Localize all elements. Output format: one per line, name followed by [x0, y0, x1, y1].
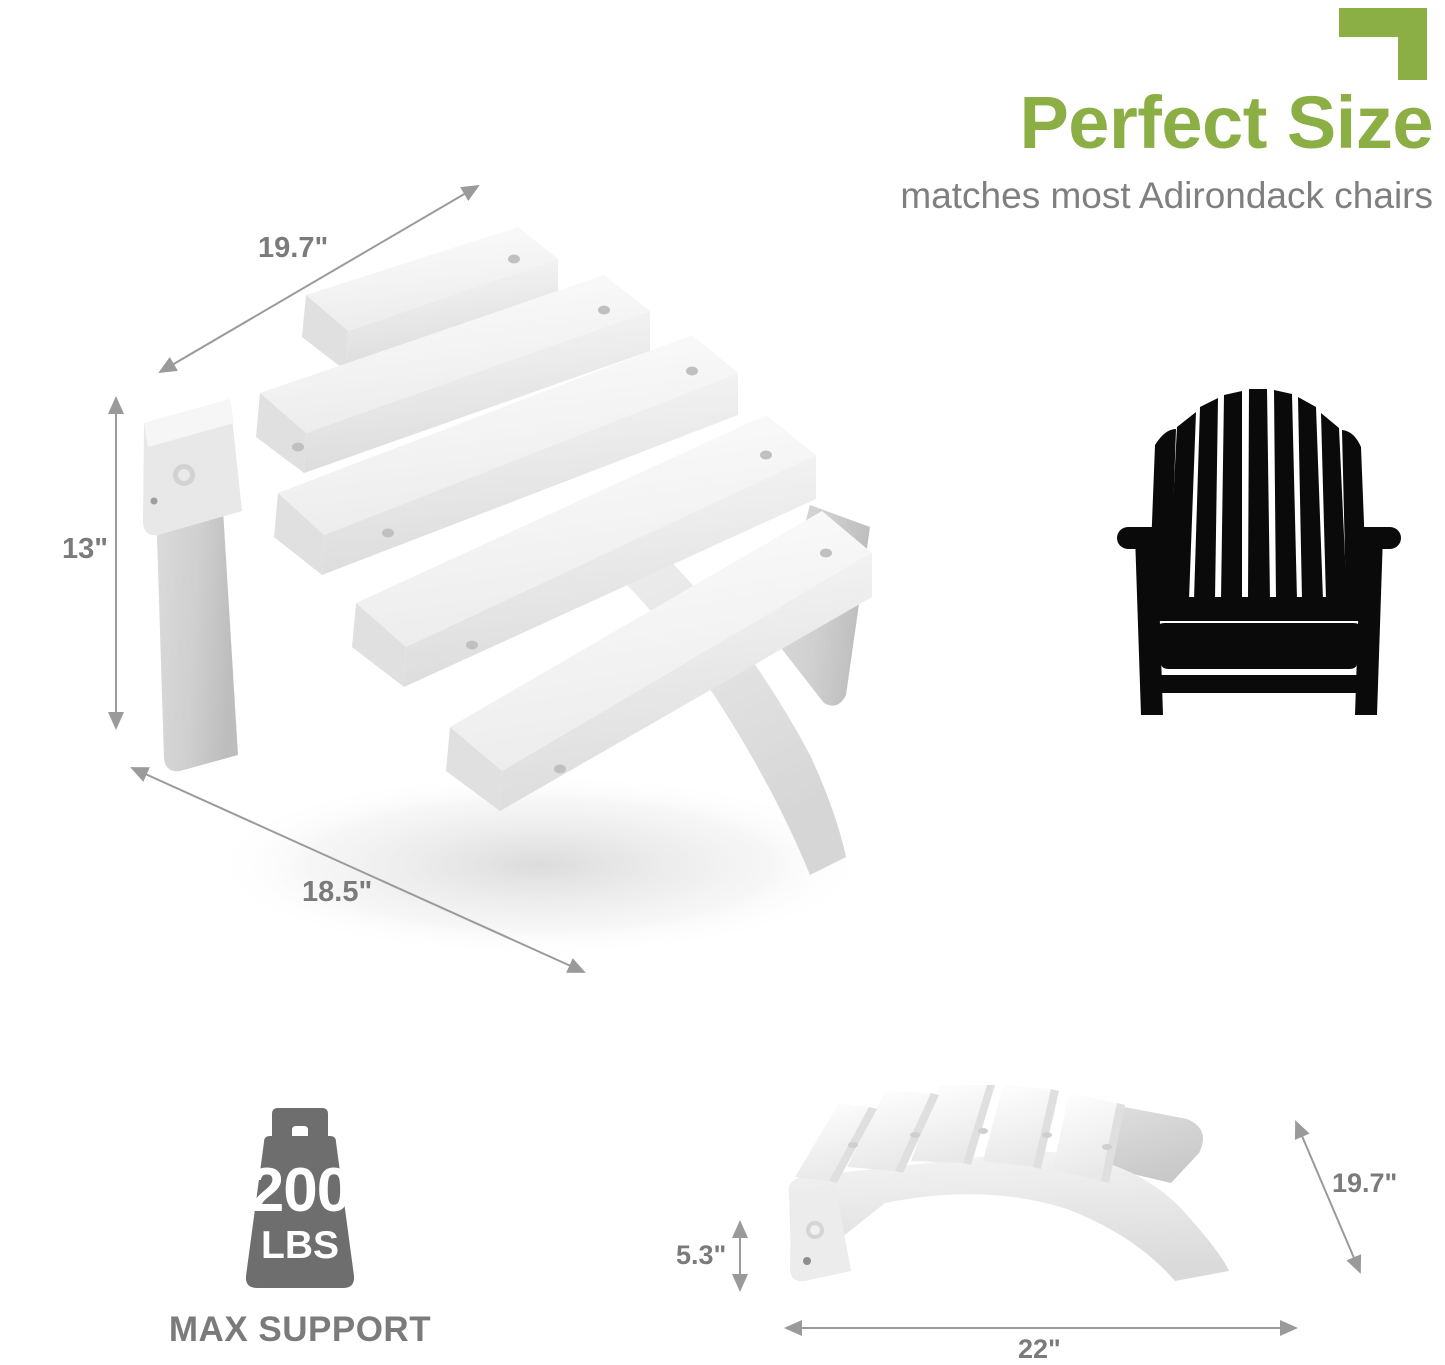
folded-ottoman-side-icon	[735, 1085, 1325, 1315]
corner-bracket-icon	[1339, 8, 1427, 80]
weight-value: 200	[200, 1160, 400, 1222]
adirondack-ottoman-3d-icon	[110, 175, 940, 965]
folded-width-dimension-label: 22"	[1018, 1334, 1061, 1365]
adirondack-chair-silhouette-icon	[1105, 385, 1405, 730]
folded-depth-dimension-label: 19.7"	[1332, 1168, 1397, 1199]
page-title: Perfect Size	[643, 86, 1433, 160]
folded-height-dimension-label: 5.3"	[676, 1240, 726, 1271]
hero-depth-dimension-label: 18.5"	[302, 876, 372, 909]
hero-height-dimension-label: 13"	[62, 533, 108, 566]
max-support-badge: 200 LBS MAX SUPPORT	[140, 1108, 460, 1358]
weight-unit: LBS	[200, 1226, 400, 1265]
hero-width-dimension-label: 19.7"	[258, 232, 328, 265]
weight-kettlebell-icon: 200 LBS	[200, 1108, 400, 1300]
max-support-caption: MAX SUPPORT	[140, 1310, 460, 1350]
